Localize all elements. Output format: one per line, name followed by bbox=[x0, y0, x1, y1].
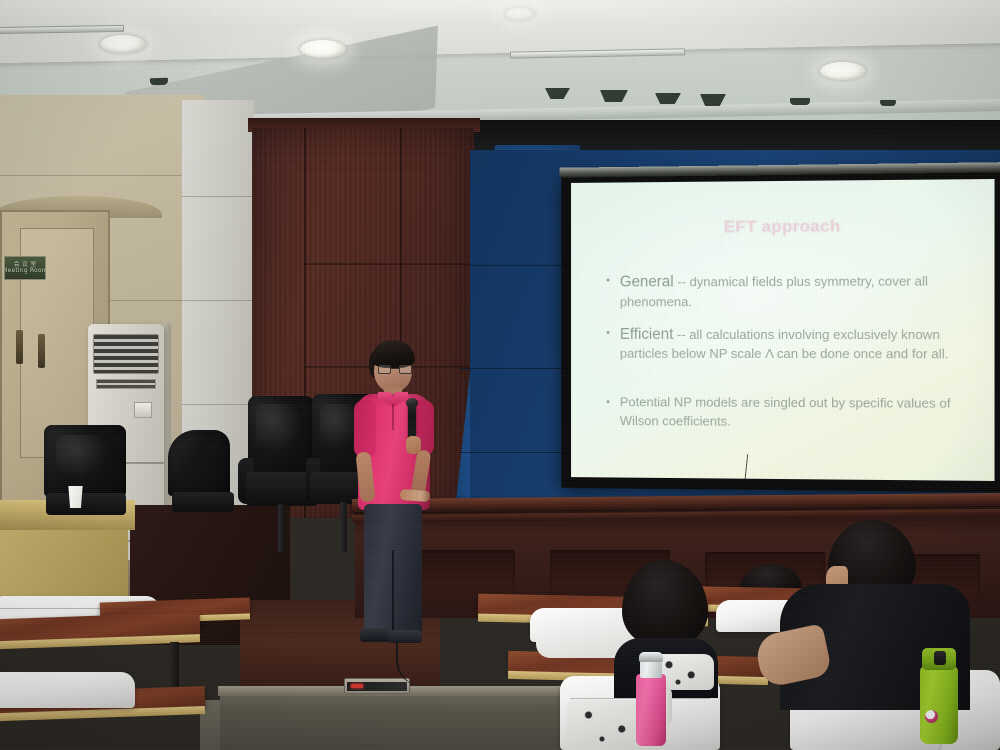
trouser-seam bbox=[392, 550, 394, 632]
ac-control-badge[interactable] bbox=[134, 402, 152, 418]
ceiling-downlight-icon bbox=[820, 62, 866, 80]
projected-slide: EFT approach • General -- dynamical fiel… bbox=[571, 179, 994, 481]
ac-vent-grille bbox=[96, 379, 156, 389]
door-handle-icon[interactable] bbox=[38, 334, 45, 368]
slide-bullet-item: • Efficient -- all calculations involvin… bbox=[606, 324, 968, 365]
ceiling-air-vent bbox=[880, 100, 896, 106]
chair-backrest bbox=[248, 396, 314, 474]
sleeve-left bbox=[354, 400, 376, 458]
shoe-right bbox=[388, 630, 422, 643]
bottle-cap bbox=[639, 652, 663, 662]
eyeglasses-icon bbox=[378, 365, 412, 374]
left-office-chair[interactable] bbox=[40, 425, 132, 535]
stage-control-panel[interactable] bbox=[344, 678, 410, 694]
projection-screen: EFT approach • General -- dynamical fiel… bbox=[561, 170, 1000, 492]
hand-gesturing bbox=[400, 489, 431, 502]
left-office-chair-2[interactable] bbox=[168, 430, 238, 540]
bullet-rest: Potential NP models are singled out by s… bbox=[620, 395, 951, 429]
bullet-marker-icon: • bbox=[606, 272, 620, 312]
shirt-placket bbox=[392, 404, 394, 430]
hair bbox=[371, 340, 415, 368]
bottle-logo-icon bbox=[925, 710, 938, 723]
bullet-text: General -- dynamical fields plus symmetr… bbox=[620, 270, 968, 312]
wall-tile-seam bbox=[182, 196, 254, 197]
chair-seat bbox=[172, 492, 234, 512]
wall-seam bbox=[0, 175, 205, 176]
bottle-body bbox=[920, 666, 958, 744]
chair-cushion-highlight bbox=[256, 404, 302, 454]
ceiling-downlight-icon bbox=[300, 40, 346, 58]
chair-seat-cover bbox=[0, 672, 135, 708]
green-sport-bottle[interactable] bbox=[920, 648, 962, 748]
wall-tile-seam bbox=[182, 300, 254, 301]
room-sign-line2: Meeting Room bbox=[4, 268, 46, 274]
room-name-sign: 会 议 室 Meeting Room bbox=[4, 256, 46, 280]
chair-cushion-highlight bbox=[56, 435, 108, 479]
status-led-icon bbox=[351, 684, 363, 688]
bullet-text: Efficient -- all calculations involving … bbox=[620, 324, 968, 365]
bullet-marker-icon: • bbox=[606, 394, 620, 431]
lens-left bbox=[378, 365, 391, 374]
door-handle-icon[interactable] bbox=[16, 330, 23, 364]
hair bbox=[622, 560, 708, 646]
ceiling-air-vent bbox=[790, 98, 810, 105]
lens-right bbox=[399, 365, 412, 374]
ceiling-downlight-icon bbox=[100, 35, 146, 53]
bottle-flip-lid-icon[interactable] bbox=[934, 651, 946, 665]
bullet-text: Potential NP models are singled out by s… bbox=[620, 394, 968, 433]
ceiling-downlight-icon bbox=[505, 8, 535, 20]
chair-stem bbox=[278, 504, 285, 552]
wood-seam bbox=[304, 263, 474, 265]
audience-desk bbox=[0, 616, 200, 656]
bullet-marker-icon: • bbox=[606, 324, 620, 364]
hand-holding-microphone bbox=[406, 436, 421, 454]
slide-bullet-item: • Potential NP models are singled out by… bbox=[606, 394, 968, 433]
glasses-bridge bbox=[391, 368, 399, 369]
chair-seat bbox=[46, 493, 126, 515]
chair-backrest bbox=[44, 425, 126, 497]
slide-content: EFT approach • General -- dynamical fiel… bbox=[571, 179, 994, 481]
stage-step bbox=[220, 690, 580, 750]
control-panel-display bbox=[347, 682, 407, 691]
bullet-lead: Efficient bbox=[620, 326, 673, 343]
pink-thermos-bottle[interactable] bbox=[636, 652, 676, 750]
slide-title: EFT approach bbox=[600, 216, 968, 238]
chair-stem bbox=[340, 502, 347, 552]
presenter bbox=[350, 340, 446, 680]
bullet-lead: General bbox=[620, 273, 674, 290]
lecture-hall-photo: EFT approach • General -- dynamical fiel… bbox=[0, 0, 1000, 750]
ac-vent-grille bbox=[93, 334, 159, 374]
chair-backrest bbox=[168, 430, 230, 496]
ceiling-air-vent bbox=[150, 78, 168, 86]
slide-bullet-list: • General -- dynamical fields plus symme… bbox=[600, 270, 968, 433]
slide-bullet-item: • General -- dynamical fields plus symme… bbox=[606, 270, 968, 312]
bottle-body bbox=[636, 674, 666, 746]
